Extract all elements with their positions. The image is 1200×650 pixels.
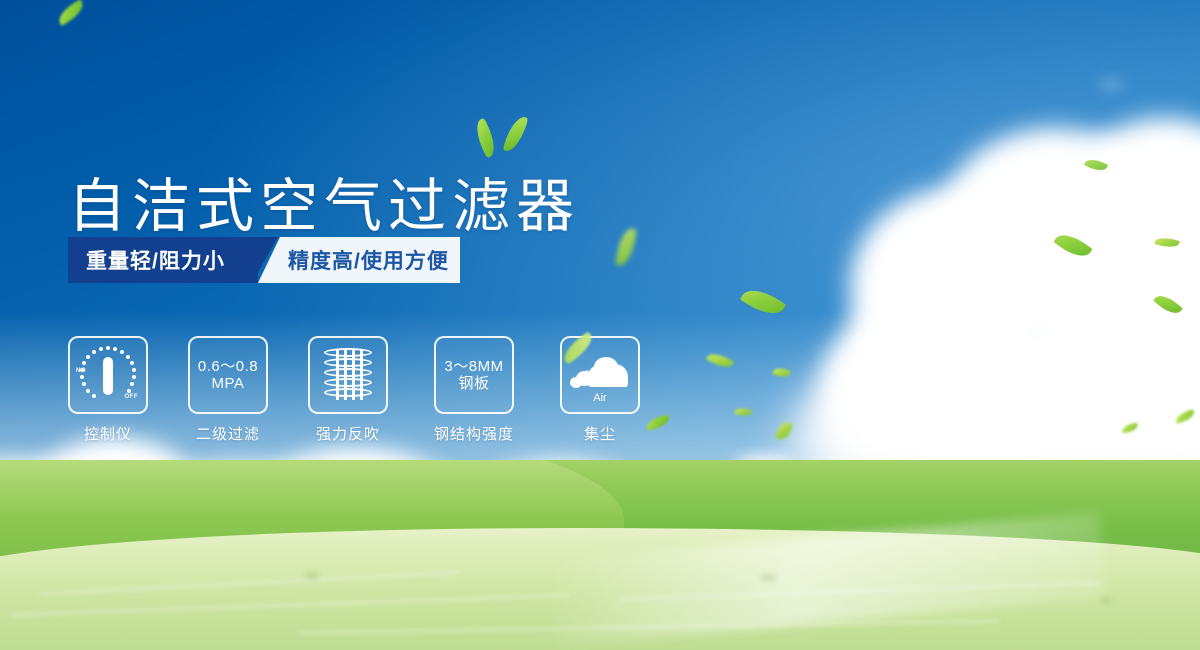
feature-label: 集尘 — [584, 423, 616, 444]
air-cloud-icon: Air — [570, 351, 630, 399]
gauge-icon: NO OFF — [77, 346, 139, 404]
cloud-wisp-4 — [1098, 80, 1124, 88]
subtitle-left: 重量轻/阻力小 — [68, 237, 258, 283]
feature-icon-box: NO OFF — [68, 336, 148, 414]
air-label: Air — [570, 392, 630, 404]
coil-filter-icon — [324, 346, 372, 404]
banner-stage: 自洁式空气过滤器 重量轻/阻力小 精度高/使用方便 — [0, 0, 1200, 650]
feature-label: 钢结构强度 — [434, 423, 514, 444]
gauge-needle-icon — [103, 357, 113, 395]
pressure-text-icon-line1: 0.6～0.8 — [198, 358, 258, 375]
feature-icon-box: 3～8MM 钢板 — [434, 336, 514, 414]
steel-text-icon-line1: 3～8MM — [444, 358, 503, 375]
grass-patch-3 — [1100, 598, 1112, 602]
feature-item-pressure[interactable]: 0.6～0.8 MPA 二级过滤 — [188, 336, 268, 444]
page-title: 自洁式空气过滤器 — [68, 178, 580, 236]
feature-label: 控制仪 — [84, 423, 132, 444]
feature-list: NO OFF 控制仪 0.6～0.8 MPA 二级过滤 — [68, 336, 640, 444]
feature-label: 二级过滤 — [196, 423, 260, 444]
grass-field — [0, 460, 1200, 650]
feature-item-controller[interactable]: NO OFF 控制仪 — [68, 336, 148, 444]
pressure-text-icon-line2: MPA — [212, 375, 245, 392]
feature-icon-box — [308, 336, 388, 414]
leaf-glow-icon — [560, 331, 597, 364]
feature-icon-box: 0.6～0.8 MPA — [188, 336, 268, 414]
gauge-label-off: OFF — [125, 394, 139, 400]
grass-patch-1 — [305, 573, 319, 578]
cloud-wisp-3 — [975, 430, 1015, 440]
feature-icon-box: Air — [560, 336, 640, 414]
feature-label: 强力反吹 — [316, 423, 380, 444]
grass-patch-2 — [760, 575, 776, 580]
sprout-leaves-icon — [470, 111, 540, 159]
feature-item-backblow[interactable]: 强力反吹 — [308, 336, 388, 444]
steel-text-icon-line2: 钢板 — [458, 375, 489, 392]
feature-item-dust[interactable]: Air 集尘 — [560, 336, 640, 444]
subtitle-right: 精度高/使用方便 — [258, 237, 460, 283]
gauge-label-no: NO — [76, 368, 86, 374]
feature-item-steel[interactable]: 3～8MM 钢板 钢结构强度 — [428, 336, 520, 444]
